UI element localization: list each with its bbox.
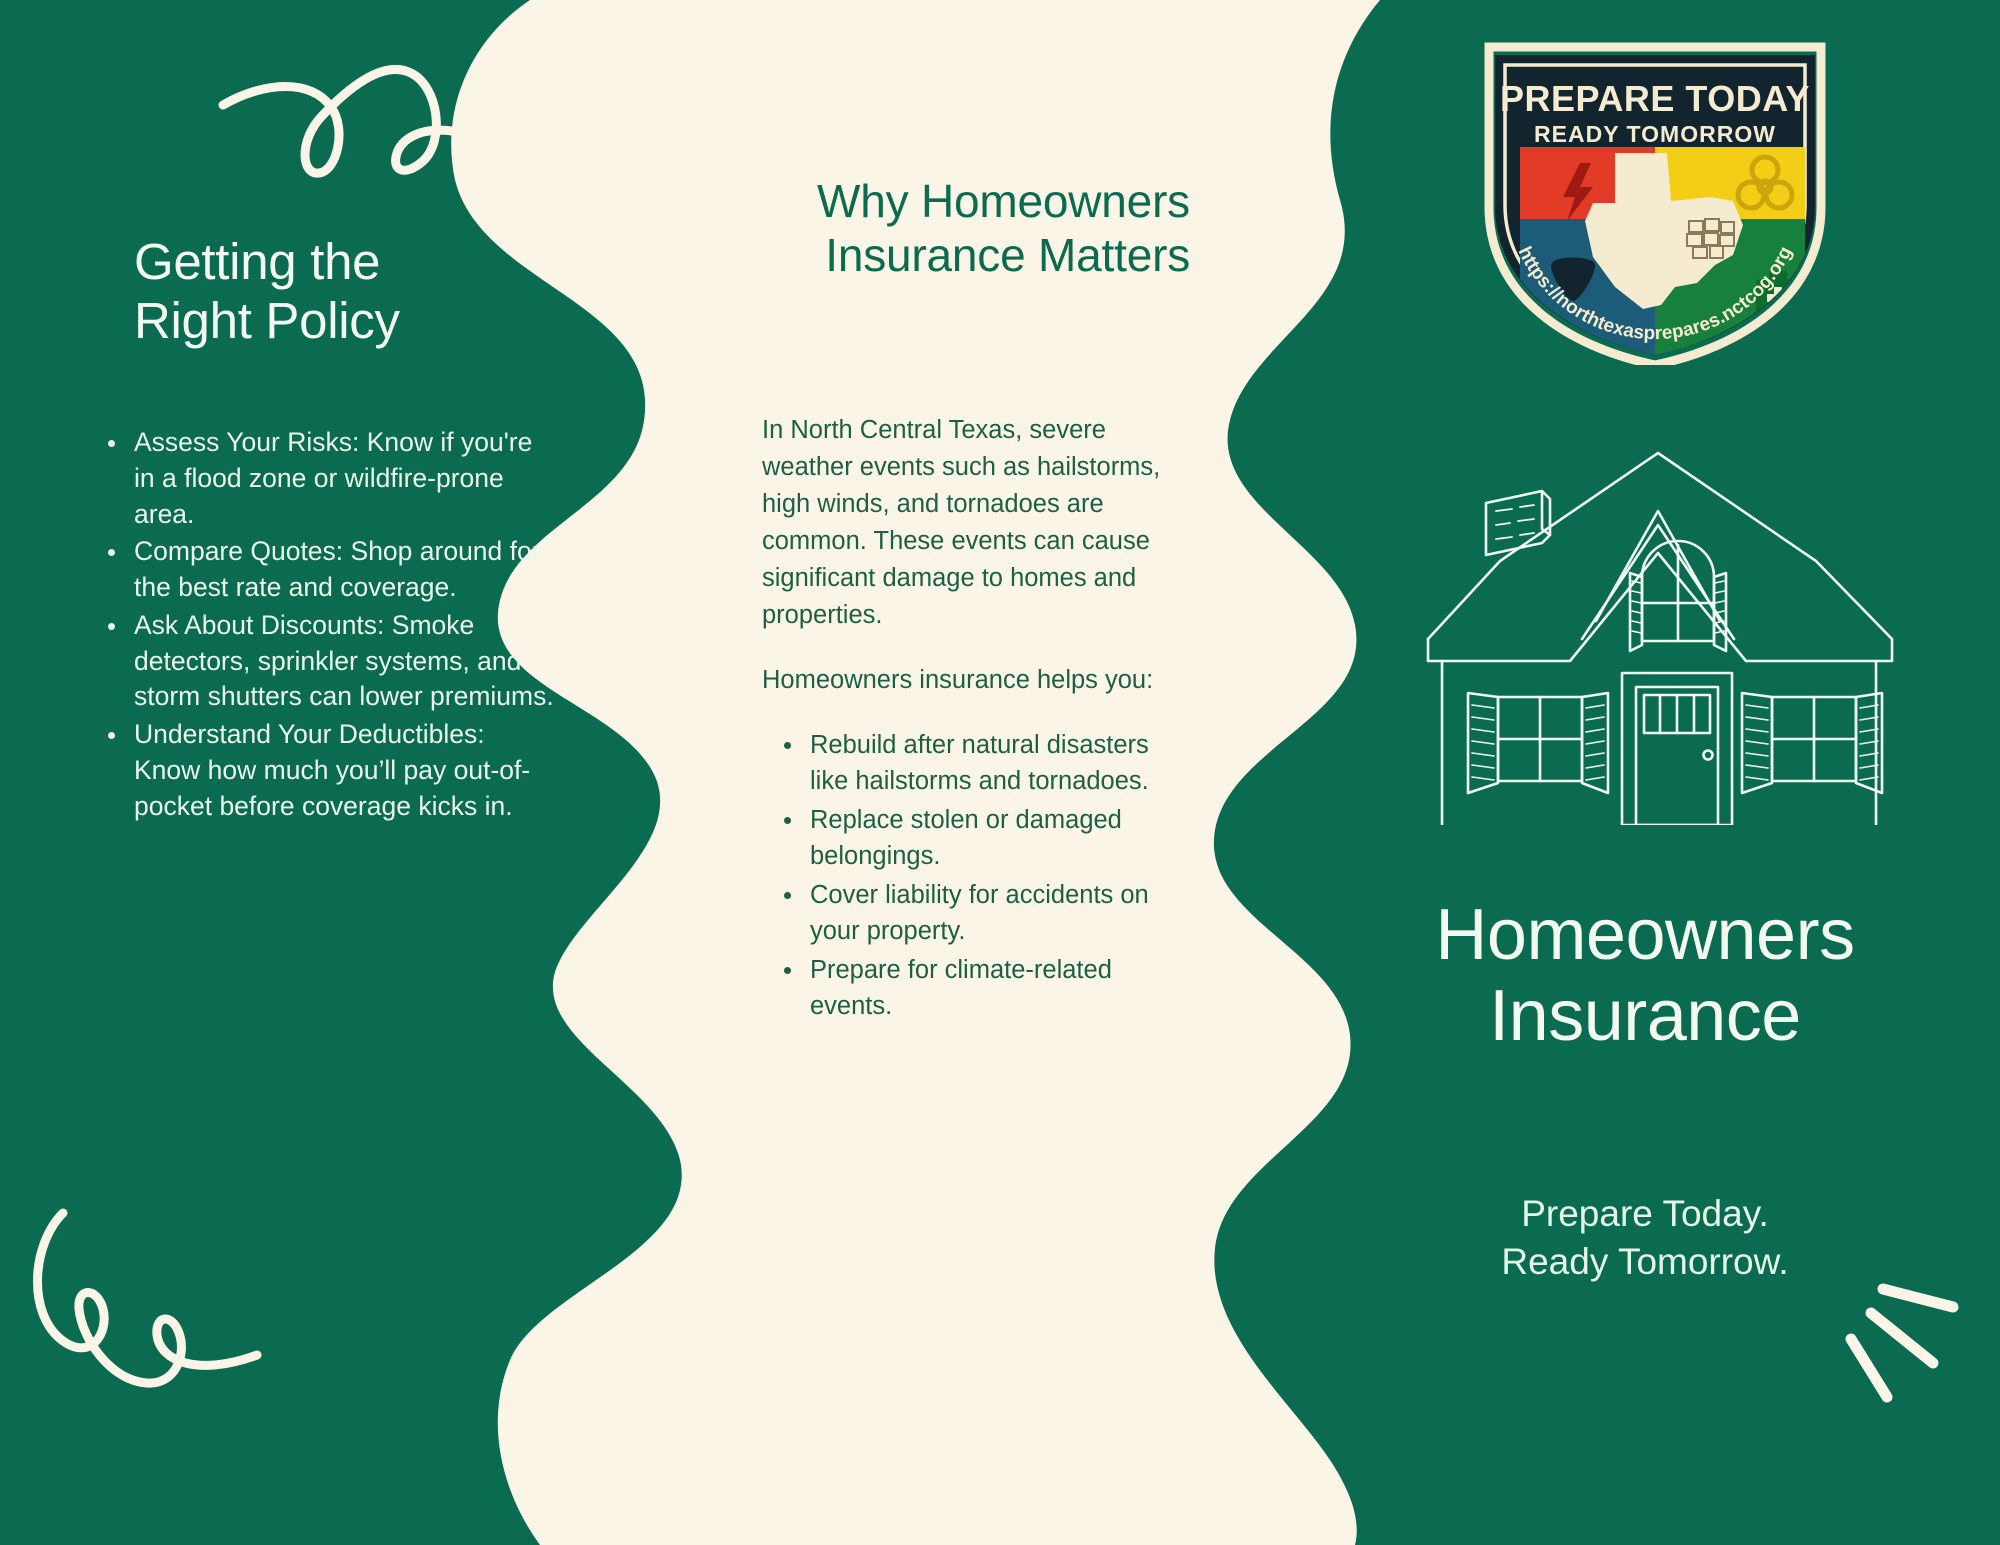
- list-item: Assess Your Risks: Know if you're in a f…: [134, 425, 554, 532]
- list-item: Rebuild after natural disasters like hai…: [810, 727, 1192, 800]
- right-panel-tagline: Prepare Today. Ready Tomorrow.: [1290, 1190, 2000, 1286]
- house-svg: [1400, 425, 1920, 825]
- middle-panel-title: Why Homeowners Insurance Matters: [700, 175, 1190, 283]
- right-shutter-slats: [1746, 705, 1878, 780]
- prepare-today-badge: PREPARE TODAY READY TOMORROW https://nor…: [1475, 25, 1835, 365]
- middle-column: Why Homeowners Insurance Matters In Nort…: [700, 0, 1260, 1545]
- door-window-mullions: [1660, 695, 1694, 733]
- tagline-line1: Prepare Today.: [1290, 1190, 2000, 1238]
- badge-line2: READY TOMORROW: [1534, 121, 1776, 147]
- getting-right-policy-list: Assess Your Risks: Know if you're in a f…: [92, 425, 554, 826]
- left-column: Getting the Right Policy Assess Your Ris…: [0, 0, 620, 1545]
- list-item: Prepare for climate-related events.: [810, 952, 1192, 1025]
- house-illustration: [1400, 425, 1920, 825]
- list-item: Compare Quotes: Shop around for the best…: [134, 534, 554, 606]
- chimney: [1486, 491, 1550, 555]
- left-shutter-slats: [1472, 705, 1604, 780]
- middle-panel-body: In North Central Texas, severe weather e…: [762, 412, 1192, 1026]
- middle-paragraph-2: Homeowners insurance helps you:: [762, 662, 1192, 699]
- right-title-line2: Insurance: [1290, 976, 2000, 1057]
- list-item: Understand Your Deductibles: Know how mu…: [134, 717, 554, 824]
- house-walls: [1442, 661, 1876, 825]
- middle-paragraph-1: In North Central Texas, severe weather e…: [762, 412, 1192, 634]
- right-column: PREPARE TODAY READY TOMORROW https://nor…: [1290, 0, 2000, 1545]
- list-item: Cover liability for accidents on your pr…: [810, 877, 1192, 950]
- left-window-mullions: [1498, 697, 1582, 781]
- right-title-line1: Homeowners: [1290, 895, 2000, 976]
- door-knob: [1704, 751, 1713, 760]
- brochure-canvas: Getting the Right Policy Assess Your Ris…: [0, 0, 2000, 1545]
- chimney-bricks: [1496, 505, 1534, 539]
- left-title-line2: Right Policy: [134, 291, 554, 350]
- right-window-mullions: [1772, 697, 1856, 781]
- list-item: Ask About Discounts: Smoke detectors, sp…: [134, 608, 554, 715]
- badge-svg: PREPARE TODAY READY TOMORROW https://nor…: [1475, 25, 1835, 365]
- left-title-line1: Getting the: [134, 232, 554, 291]
- insurance-helps-list: Rebuild after natural disasters like hai…: [762, 727, 1192, 1025]
- tagline-line2: Ready Tomorrow.: [1290, 1238, 2000, 1286]
- left-panel-title: Getting the Right Policy: [134, 232, 554, 350]
- list-item: Replace stolen or damaged belongings.: [810, 802, 1192, 875]
- badge-line1: PREPARE TODAY: [1500, 78, 1810, 119]
- right-panel-title: Homeowners Insurance: [1290, 895, 2000, 1056]
- dormer-gable-outer: [1582, 525, 1734, 639]
